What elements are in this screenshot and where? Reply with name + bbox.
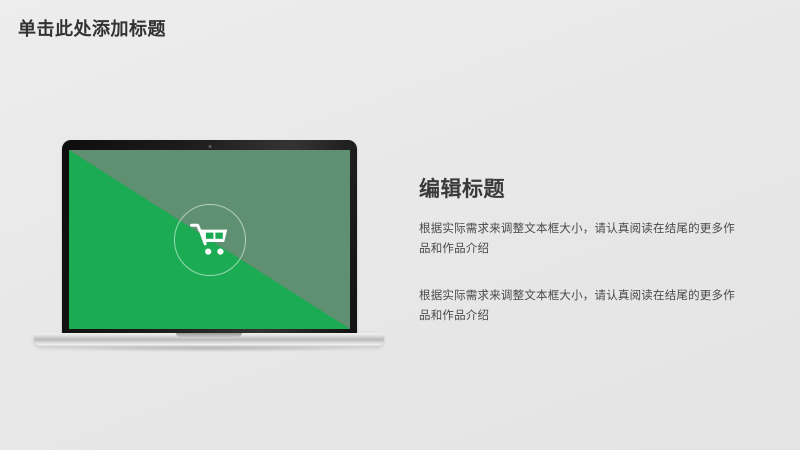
content-paragraph-2[interactable]: 根据实际需求来调整文本框大小，请认真阅读在结尾的更多作品和作品介绍 (419, 285, 741, 325)
laptop-mockup (34, 140, 384, 355)
webcam-bar (150, 143, 270, 149)
webcam-icon (208, 145, 211, 148)
content-heading[interactable]: 编辑标题 (419, 176, 754, 202)
content-paragraph-1[interactable]: 根据实际需求来调整文本框大小，请认真阅读在结尾的更多作品和作品介绍 (419, 218, 741, 258)
screen-icon-group (174, 204, 246, 276)
laptop-screen (69, 150, 350, 329)
content-text-column: 编辑标题 根据实际需求来调整文本框大小，请认真阅读在结尾的更多作品和作品介绍 根… (419, 176, 754, 325)
shopping-cart-icon (190, 222, 230, 258)
laptop-shadow (52, 345, 366, 352)
laptop-base-notch (176, 333, 242, 337)
slide-title[interactable]: 单击此处添加标题 (18, 18, 166, 41)
slide-canvas: 单击此处添加标题 (0, 0, 800, 450)
laptop-lid (62, 140, 357, 336)
